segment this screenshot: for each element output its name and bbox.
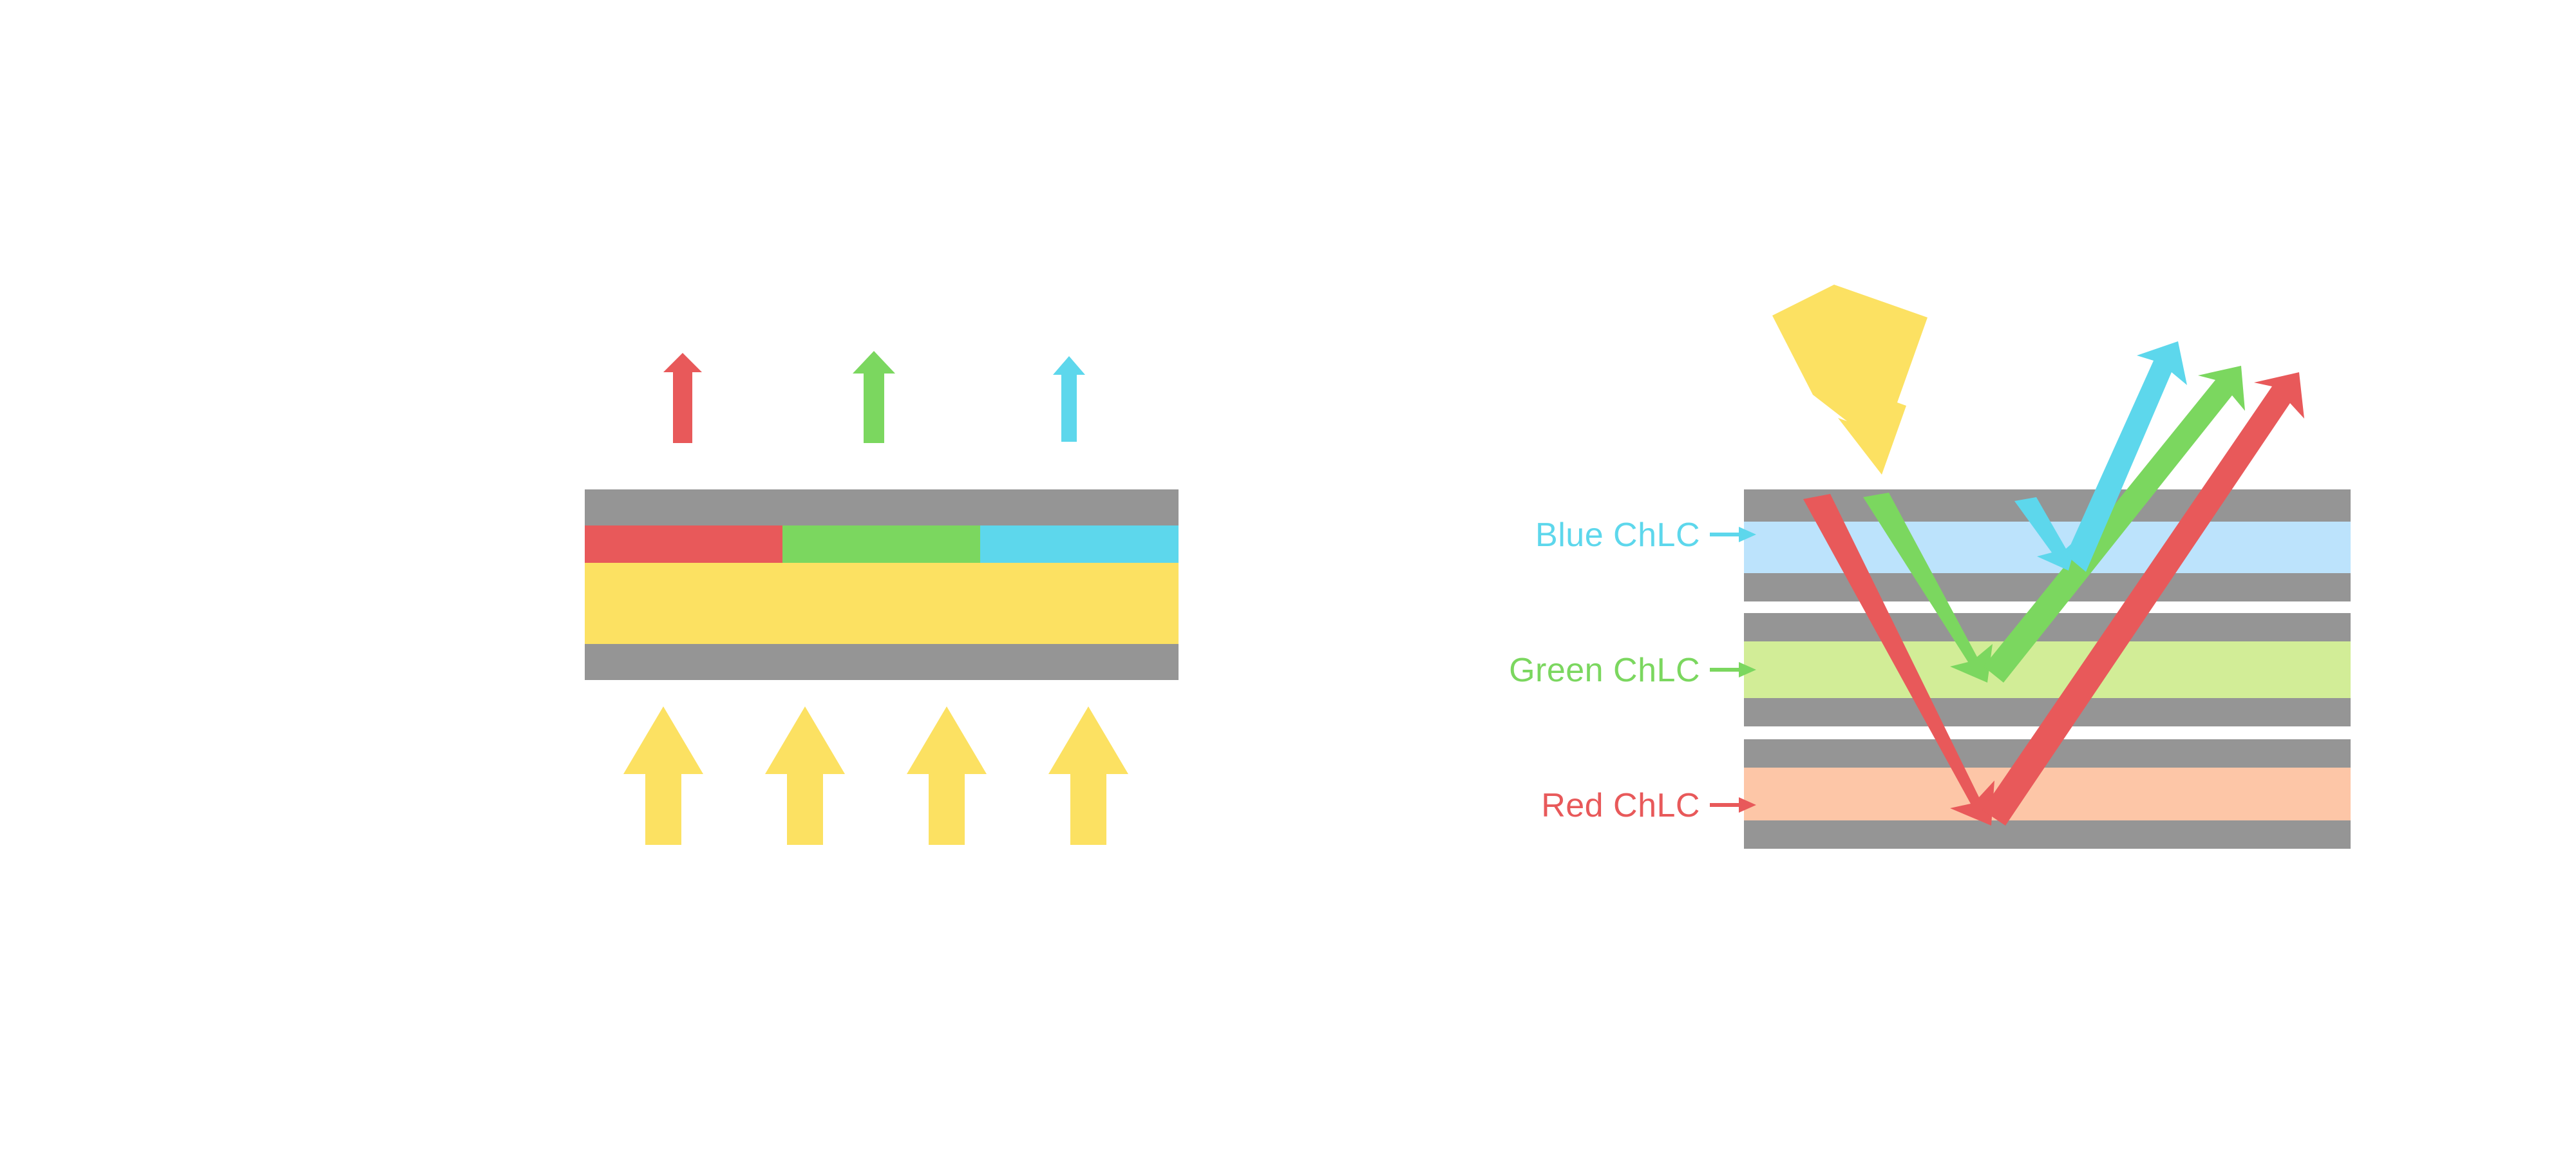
label-green-chlc: Green ChLC bbox=[1509, 652, 1700, 689]
top-electrode-layer bbox=[585, 489, 1179, 525]
right-panel-group: Blue ChLC Green ChLC Red ChLC bbox=[1509, 285, 2351, 849]
color-filter-blue-segment bbox=[980, 525, 1179, 563]
green-chlc-cell bbox=[1744, 613, 2351, 726]
red-cell-medium bbox=[1744, 768, 2351, 820]
emitted-green-arrow-icon bbox=[853, 351, 895, 443]
emitted-light-arrows bbox=[663, 351, 1085, 443]
label-red-chlc: Red ChLC bbox=[1541, 787, 1700, 824]
green-cell-medium bbox=[1744, 641, 2351, 698]
emitted-red-arrow-icon bbox=[663, 353, 702, 443]
incident-white-light-arrow-icon bbox=[1772, 285, 1927, 475]
backlight-arrows bbox=[623, 706, 1128, 845]
backlight-layer bbox=[585, 563, 1179, 644]
color-filter-green-segment bbox=[782, 525, 980, 563]
color-filter-row bbox=[585, 525, 1179, 563]
color-filter-red-segment bbox=[585, 525, 782, 563]
left-panel-group bbox=[585, 351, 1179, 845]
backlight-arrow-2-icon bbox=[765, 706, 845, 845]
bottom-electrode-layer bbox=[585, 644, 1179, 680]
backlight-arrow-4-icon bbox=[1048, 706, 1128, 845]
backlight-arrow-3-icon bbox=[907, 706, 987, 845]
red-cell-bottom-electrode bbox=[1744, 820, 2351, 849]
emitted-blue-arrow-icon bbox=[1053, 356, 1085, 442]
diagram-canvas: Blue ChLC Green ChLC Red ChLC bbox=[0, 0, 2576, 1154]
backlight-arrow-1-icon bbox=[623, 706, 703, 845]
label-blue-chlc: Blue ChLC bbox=[1535, 516, 1700, 554]
right-panel-labels: Blue ChLC Green ChLC Red ChLC bbox=[1509, 516, 1756, 824]
